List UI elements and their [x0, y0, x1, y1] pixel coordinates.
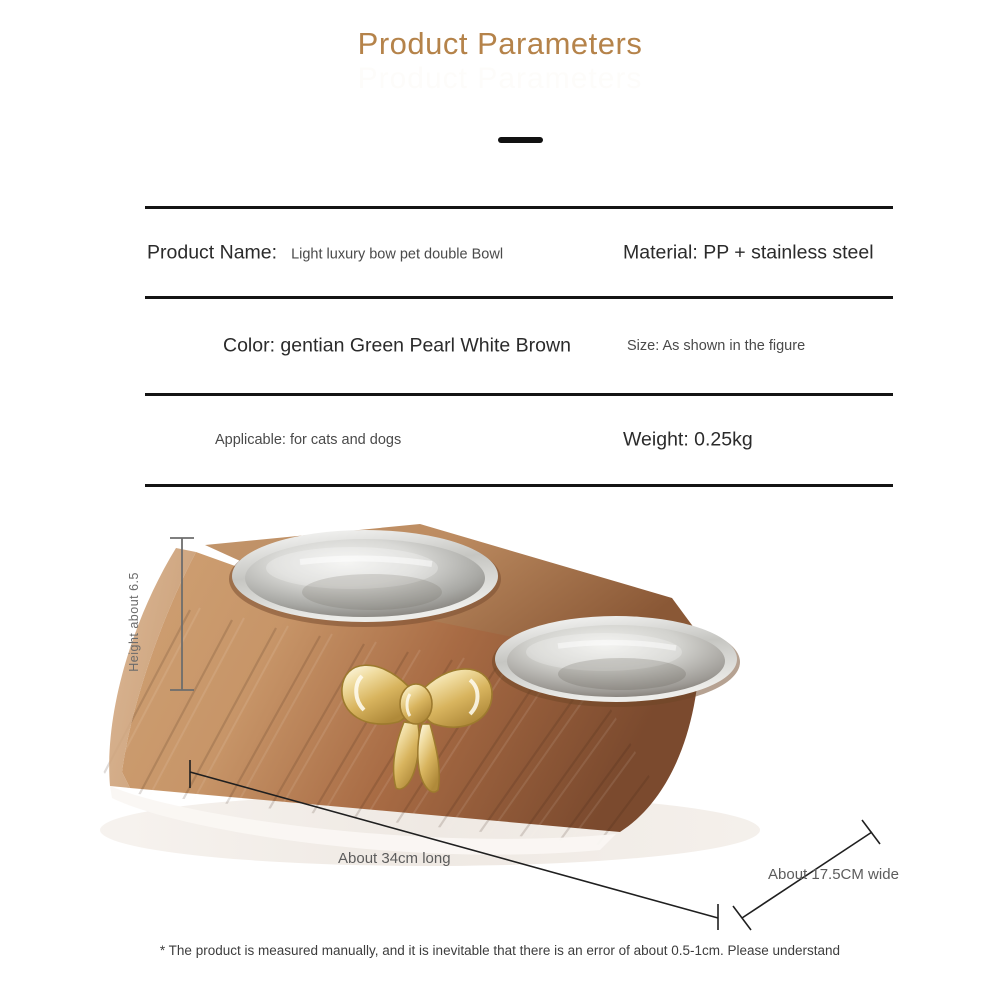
spec-cell-color: Color: gentian Green Pearl White Brown	[223, 335, 571, 358]
horizontal-dash-divider-icon	[498, 137, 543, 143]
page-title: Product Parameters	[0, 26, 1000, 62]
spec-row-product-name: Product Name: Light luxury bow pet doubl…	[145, 209, 893, 296]
left-stainless-bowl	[229, 530, 501, 627]
dimension-label-length: About 34cm long	[338, 850, 451, 867]
table-rule-bottom	[145, 484, 893, 487]
spec-value-product-name: Light luxury bow pet double Bowl	[291, 246, 503, 262]
spec-cell-weight: Weight: 0.25kg	[623, 429, 753, 452]
spec-cell-size: Size: As shown in the figure	[627, 337, 805, 355]
spec-cell-product-name: Product Name: Light luxury bow pet doubl…	[147, 241, 503, 264]
spec-text-weight: Weight: 0.25kg	[623, 429, 753, 451]
spec-text-size: Size: As shown in the figure	[627, 338, 805, 354]
page-title-ghost: Product Parameters	[0, 62, 1000, 96]
spec-cell-applicable: Applicable: for cats and dogs	[215, 431, 401, 449]
dimension-label-height: Height about 6.5	[128, 572, 146, 672]
spec-text-material: Material: PP + stainless steel	[623, 241, 874, 263]
spec-table: Product Name: Light luxury bow pet doubl…	[145, 206, 893, 487]
spec-cell-material: Material: PP + stainless steel	[623, 241, 874, 264]
spec-text-color: Color: gentian Green Pearl White Brown	[223, 335, 571, 357]
spec-label-product-name: Product Name:	[147, 241, 277, 264]
spec-row-color: Color: gentian Green Pearl White Brown S…	[145, 299, 893, 393]
dimension-label-width: About 17.5CM wide	[768, 866, 899, 883]
spec-row-applicable: Applicable: for cats and dogs Weight: 0.…	[145, 396, 893, 484]
spec-text-applicable: Applicable: for cats and dogs	[215, 432, 401, 448]
right-stainless-bowl	[492, 616, 740, 707]
measurement-disclaimer: * The product is measured manually, and …	[0, 943, 1000, 958]
